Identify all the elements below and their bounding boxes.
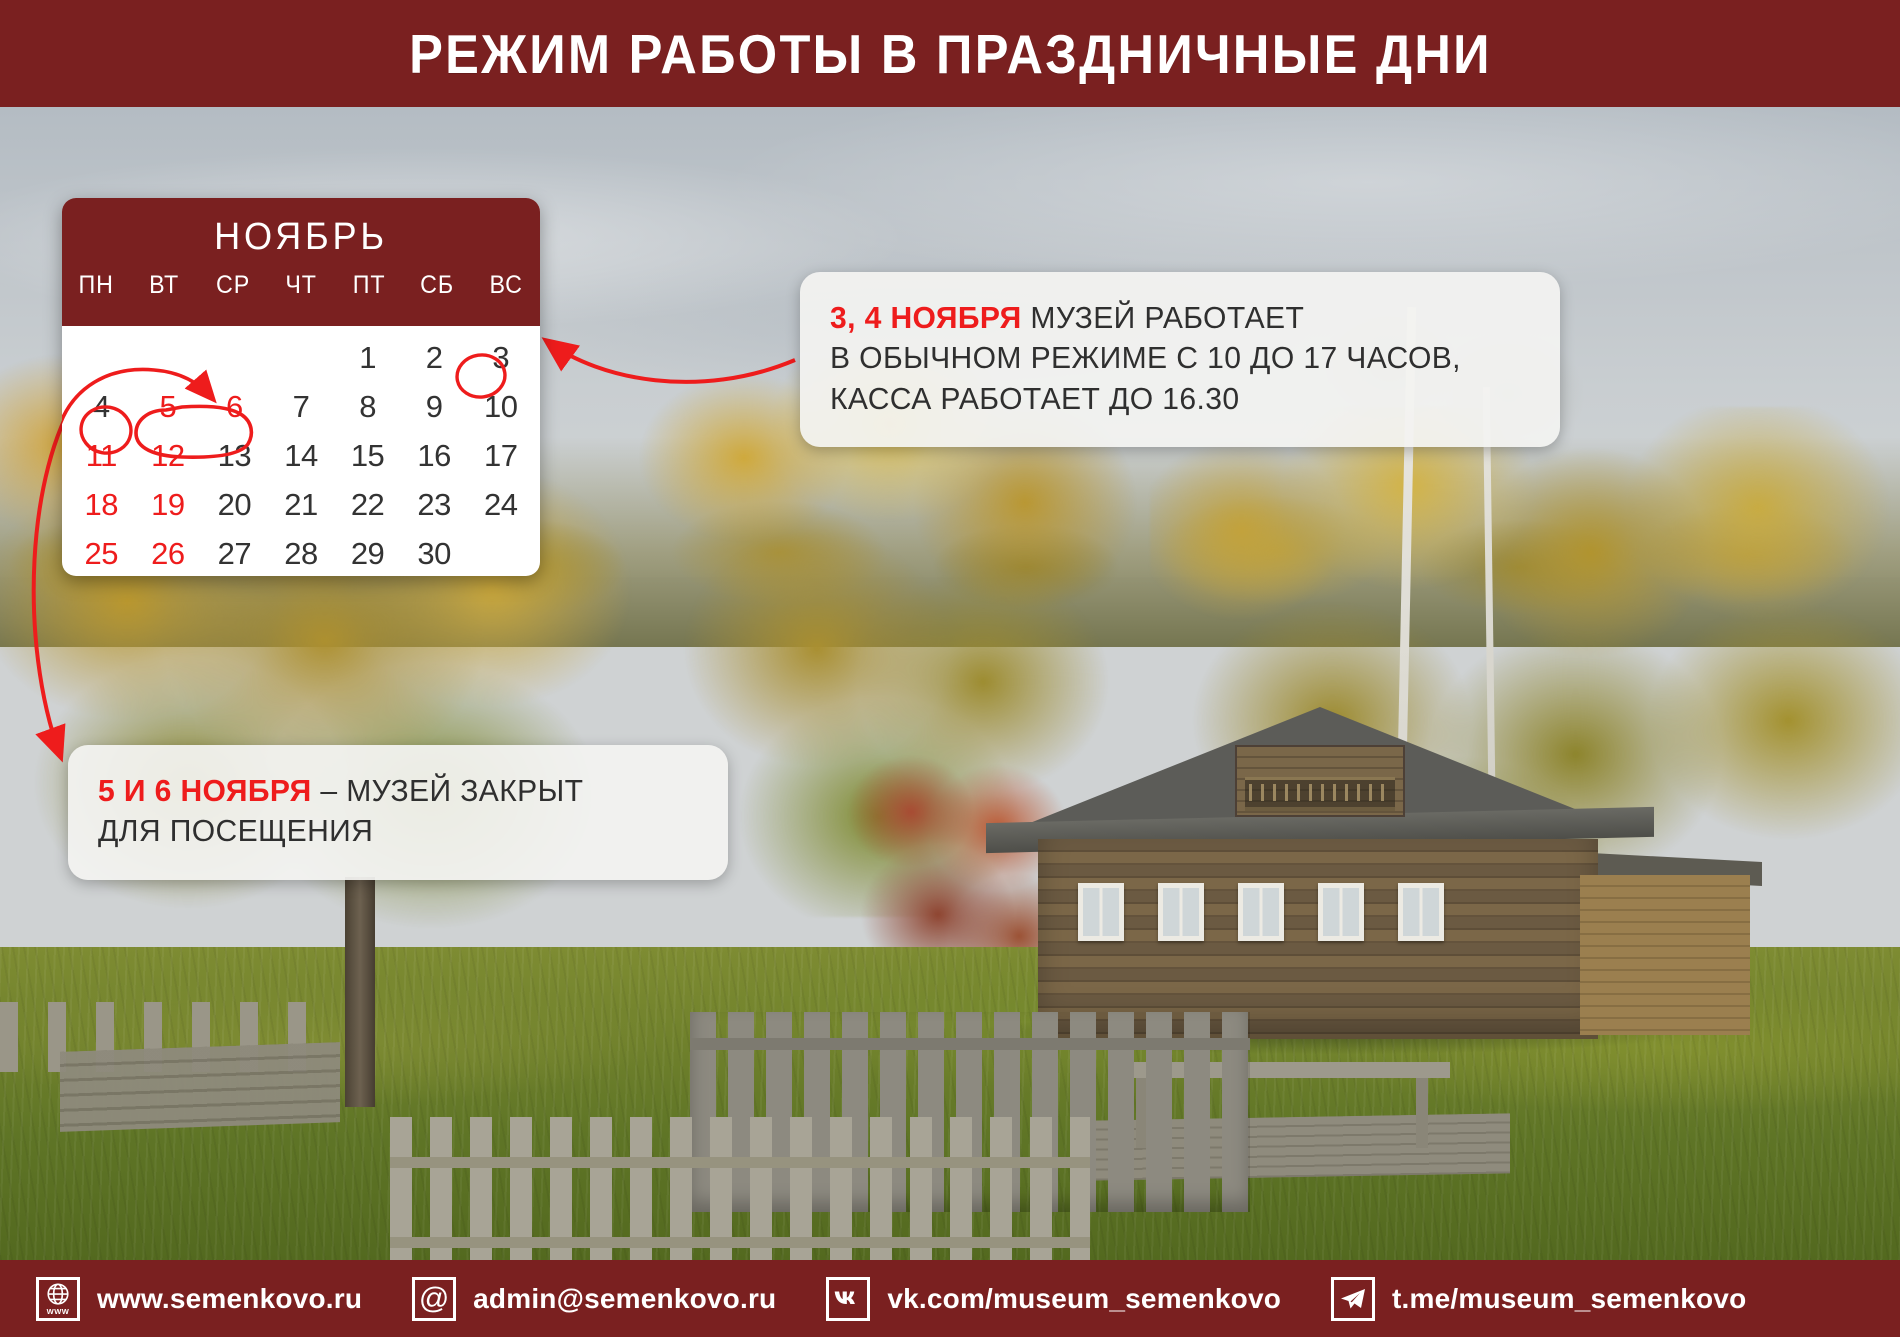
calendar-day-24[interactable]: 24 (467, 483, 534, 526)
house-window (1238, 883, 1284, 941)
calendar-day-empty (467, 532, 534, 575)
house-window (1398, 883, 1444, 941)
calendar-weekday-вс: ВС (474, 271, 538, 300)
calendar-day-empty (135, 336, 202, 379)
calendar-day-19[interactable]: 19 (135, 483, 202, 526)
callout-closed-highlight: 5 И 6 НОЯБРЯ (98, 773, 312, 808)
calendar-weekday-чт: ЧТ (269, 271, 333, 300)
calendar-weekday-пт: ПТ (338, 271, 402, 300)
callout-open-line1: 3, 4 НОЯБРЯ МУЗЕЙ РАБОТАЕТ (830, 298, 1505, 338)
house-window (1318, 883, 1364, 941)
house-window (1158, 883, 1204, 941)
calendar-day-22[interactable]: 22 (334, 483, 401, 526)
calendar-day-2[interactable]: 2 (401, 336, 468, 379)
calendar-day-17[interactable]: 17 (467, 434, 534, 477)
house-annex (1580, 875, 1750, 1035)
calendar-header: НОЯБРЬ ПНВТСРЧТПТСБВС (62, 198, 540, 326)
calendar-day-13[interactable]: 13 (201, 434, 268, 477)
calendar-month-label: НОЯБРЬ (74, 208, 528, 259)
calendar-weekday-ср: СР (201, 271, 265, 300)
november-calendar-card: НОЯБРЬ ПНВТСРЧТПТСБВС 123456789101112131… (62, 198, 540, 576)
calendar-weekday-сб: СБ (406, 271, 470, 300)
house-window (1078, 883, 1124, 941)
contact-at[interactable]: @admin@semenkovo.ru (412, 1277, 776, 1321)
calendar-day-30[interactable]: 30 (401, 532, 468, 575)
callout-open-line2: В ОБЫЧНОМ РЕЖИМЕ С 10 ДО 17 ЧАСОВ, (830, 338, 1505, 378)
calendar-weekday-row: ПНВТСРЧТПТСБВС (62, 271, 540, 300)
calendar-day-5[interactable]: 5 (135, 385, 202, 428)
calendar-day-grid: 1234567891011121314151617181920212223242… (62, 326, 540, 576)
vk-icon (826, 1277, 870, 1321)
calendar-day-11[interactable]: 11 (68, 434, 135, 477)
at-icon: @ (412, 1277, 456, 1321)
callout-museum-open: 3, 4 НОЯБРЯ МУЗЕЙ РАБОТАЕТ В ОБЫЧНОМ РЕЖ… (800, 272, 1560, 447)
contact-label: admin@semenkovo.ru (473, 1283, 776, 1315)
calendar-day-28[interactable]: 28 (268, 532, 335, 575)
calendar-weekday-вт: ВТ (133, 271, 197, 300)
callout-open-line3: КАССА РАБОТАЕТ ДО 16.30 (830, 379, 1505, 419)
calendar-day-7[interactable]: 7 (268, 385, 335, 428)
foreground-fence (390, 1117, 1090, 1260)
log-pile (60, 1042, 340, 1132)
calendar-day-29[interactable]: 29 (334, 532, 401, 575)
contact-telegram[interactable]: t.me/museum_semenkovo (1331, 1277, 1746, 1321)
calendar-day-1[interactable]: 1 (334, 336, 401, 379)
contact-globe[interactable]: WWWwww.semenkovo.ru (36, 1277, 362, 1321)
calendar-day-21[interactable]: 21 (268, 483, 335, 526)
callout-closed-line1: 5 И 6 НОЯБРЯ – МУЗЕЙ ЗАКРЫТ (98, 771, 676, 811)
poster-root: РЕЖИМ РАБОТЫ В ПРАЗДНИЧНЫЕ ДНИ НОЯБРЬ ПН… (0, 0, 1900, 1337)
header-bar: РЕЖИМ РАБОТЫ В ПРАЗДНИЧНЫЕ ДНИ (0, 0, 1900, 107)
calendar-day-14[interactable]: 14 (268, 434, 335, 477)
calendar-day-26[interactable]: 26 (135, 532, 202, 575)
calendar-day-empty (201, 336, 268, 379)
footer-contact-bar: WWWwww.semenkovo.ru@admin@semenkovo.ruvk… (0, 1260, 1900, 1337)
callout-closed-line1-rest: – МУЗЕЙ ЗАКРЫТ (312, 773, 584, 808)
callout-open-line1-rest: МУЗЕЙ РАБОТАЕТ (1022, 300, 1305, 335)
globe-icon: WWW (36, 1277, 80, 1321)
callout-open-highlight: 3, 4 НОЯБРЯ (830, 300, 1022, 335)
calendar-day-25[interactable]: 25 (68, 532, 135, 575)
calendar-weekday-пн: ПН (64, 271, 128, 300)
telegram-icon (1331, 1277, 1375, 1321)
calendar-day-20[interactable]: 20 (201, 483, 268, 526)
tree-trunk (345, 877, 375, 1107)
callout-closed-line2: ДЛЯ ПОСЕЩЕНИЯ (98, 811, 676, 851)
contact-vk[interactable]: vk.com/museum_semenkovo (826, 1277, 1281, 1321)
calendar-day-18[interactable]: 18 (68, 483, 135, 526)
wooden-house (1020, 707, 1620, 1037)
calendar-day-6[interactable]: 6 (201, 385, 268, 428)
calendar-day-9[interactable]: 9 (401, 385, 468, 428)
calendar-day-empty (68, 336, 135, 379)
calendar-day-10[interactable]: 10 (467, 385, 534, 428)
calendar-day-12[interactable]: 12 (135, 434, 202, 477)
calendar-day-8[interactable]: 8 (334, 385, 401, 428)
calendar-day-3[interactable]: 3 (467, 336, 534, 379)
contact-label: t.me/museum_semenkovo (1392, 1283, 1746, 1315)
contact-label: vk.com/museum_semenkovo (887, 1283, 1281, 1315)
calendar-day-15[interactable]: 15 (334, 434, 401, 477)
house-balcony (1245, 777, 1395, 811)
calendar-day-4[interactable]: 4 (68, 385, 135, 428)
calendar-day-empty (268, 336, 335, 379)
calendar-day-23[interactable]: 23 (401, 483, 468, 526)
calendar-day-16[interactable]: 16 (401, 434, 468, 477)
contact-label: www.semenkovo.ru (97, 1283, 362, 1315)
calendar-day-27[interactable]: 27 (201, 532, 268, 575)
page-title: РЕЖИМ РАБОТЫ В ПРАЗДНИЧНЫЕ ДНИ (409, 22, 1492, 86)
callout-museum-closed: 5 И 6 НОЯБРЯ – МУЗЕЙ ЗАКРЫТ ДЛЯ ПОСЕЩЕНИ… (68, 745, 728, 880)
